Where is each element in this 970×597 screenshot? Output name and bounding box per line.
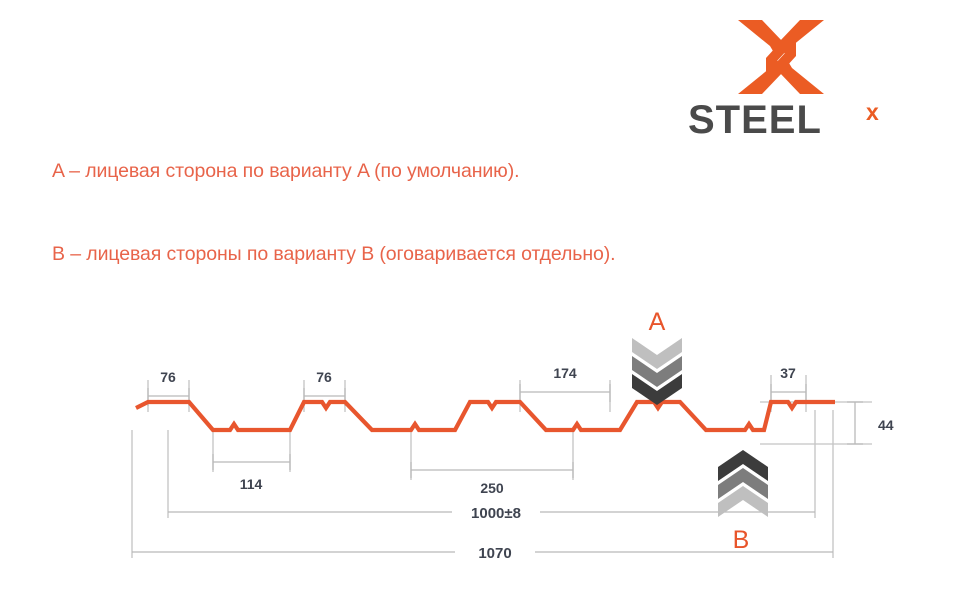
marker-a-letter: A: [649, 308, 666, 336]
dim-label-end-crest: 37: [780, 365, 796, 381]
dim-label-total-width: 1070: [478, 545, 511, 562]
dim-label-valley-span: 174: [553, 365, 577, 381]
marker-side-b: B: [718, 450, 768, 554]
dim-label-crest-left: 76: [160, 369, 176, 385]
profile-polyline: [136, 402, 835, 430]
steelx-logo: STEEL x: [688, 18, 918, 143]
logo-superscript: x: [866, 100, 880, 125]
profile-drawing-page: STEEL x A – лицевая сторона по варианту …: [0, 0, 970, 597]
dim-label-effective-width: 1000±8: [471, 505, 521, 522]
dim-label-crest-mid: 76: [316, 369, 332, 385]
marker-b-letter: B: [733, 526, 750, 554]
profile-drawing-svg: 76 76 174 37 44 114 250 1000±8 1070 A B: [0, 280, 970, 580]
steelx-wordmark: STEEL x: [688, 100, 918, 142]
caption-variant-b: B – лицевая стороны по варианту B (огова…: [52, 243, 615, 266]
logo-word: STEEL: [688, 100, 822, 142]
caption-variant-a: A – лицевая сторона по варианту A (по ум…: [52, 160, 519, 183]
marker-side-a: A: [632, 308, 682, 405]
profile-drawing: 76 76 174 37 44 114 250 1000±8 1070 A B: [0, 280, 970, 580]
dim-label-height: 44: [878, 417, 894, 433]
dim-label-pitch: 250: [480, 480, 504, 496]
steelx-x-mark-icon: [736, 18, 826, 96]
dim-label-valley-width: 114: [240, 476, 263, 492]
